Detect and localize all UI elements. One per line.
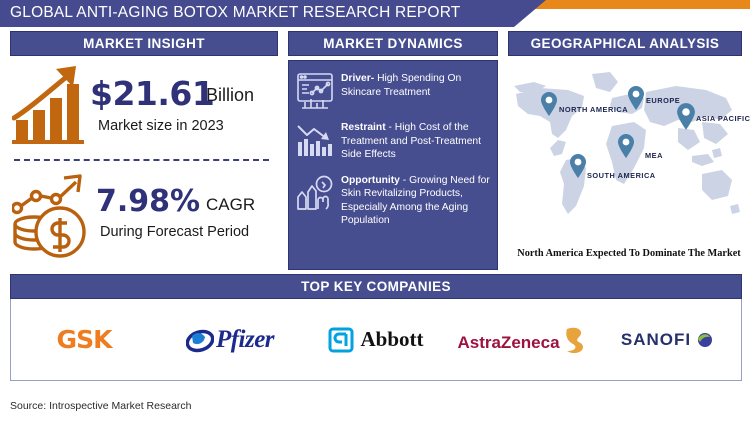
market-size-caption: Market size in 2023	[98, 118, 224, 134]
abbott-text: Abbott	[360, 327, 423, 352]
market-dynamics-panel: Driver- High Spending On Skincare Treatm…	[288, 60, 498, 270]
map-pin-south-america[interactable]	[569, 154, 587, 179]
cagr-row: 7.98% CAGR During Forecast Period	[10, 166, 278, 266]
astrazeneca-swirl-icon	[561, 325, 587, 355]
map-label-south-america: SOUTH AMERICA	[587, 171, 656, 180]
geographical-panel: NORTH AMERICA EUROPE ASIA PACIFIC MEA SO…	[506, 58, 746, 270]
map-pin-asia-pacific[interactable]	[676, 103, 696, 131]
gsk-wordmark: GSK	[57, 325, 112, 354]
dynamics-item-restraint: Restraint - High Cost of the Treatment a…	[295, 118, 491, 162]
company-logo-abbott: Abbott	[303, 299, 449, 380]
report-title-banner: GLOBAL ANTI-AGING BOTOX MARKET RESEARCH …	[0, 0, 560, 27]
analytics-dashboard-icon	[295, 71, 335, 111]
map-pin-north-america[interactable]	[540, 92, 558, 117]
market-size-unit: Billion	[206, 85, 254, 106]
dynamics-text-opportunity: Opportunity - Growing Need for Skin Revi…	[341, 171, 491, 228]
geographical-title: GEOGRAPHICAL ANALYSIS	[531, 36, 720, 51]
insight-divider	[14, 159, 269, 161]
astrazeneca-text: AstraZeneca	[457, 333, 559, 353]
coin-stack-growth-icon	[12, 172, 94, 265]
map-label-mea: MEA	[645, 151, 663, 160]
dynamics-text-driver: Driver- High Spending On Skincare Treatm…	[341, 69, 491, 109]
market-insight-title: MARKET INSIGHT	[83, 36, 205, 51]
growth-hand-idea-icon	[295, 173, 335, 213]
company-logo-gsk: GSK	[11, 299, 157, 380]
dynamics-text-restraint: Restraint - High Cost of the Treatment a…	[341, 118, 491, 162]
map-label-north-america: NORTH AMERICA	[559, 105, 628, 114]
dynamics-label-driver: Driver-	[341, 73, 374, 84]
dynamics-item-opportunity: Opportunity - Growing Need for Skin Revi…	[295, 171, 491, 228]
page-title: GLOBAL ANTI-AGING BOTOX MARKET RESEARCH …	[10, 4, 460, 22]
infographic-page: GLOBAL ANTI-AGING BOTOX MARKET RESEARCH …	[0, 0, 750, 422]
sanofi-wordmark: SANOFI	[621, 330, 715, 350]
pfizer-text: Pfizer	[216, 326, 274, 354]
section-header-market-dynamics: MARKET DYNAMICS	[288, 31, 498, 56]
company-logo-astrazeneca: AstraZeneca	[449, 299, 595, 380]
market-dynamics-title: MARKET DYNAMICS	[323, 36, 463, 51]
declining-chart-icon	[295, 120, 335, 160]
map-pin-europe[interactable]	[627, 86, 645, 111]
dynamics-label-restraint: Restraint	[341, 122, 386, 133]
sanofi-symbol-icon	[695, 330, 715, 350]
market-size-row: $21.61 Billion Market size in 2023	[10, 58, 278, 150]
cagr-caption: During Forecast Period	[100, 224, 249, 240]
map-label-asia-pacific: ASIA PACIFIC	[696, 114, 750, 123]
sanofi-text: SANOFI	[621, 330, 691, 350]
bar-chart-growth-icon	[12, 62, 88, 149]
market-size-value: $21.61	[90, 74, 214, 113]
source-note: Source: Introspective Market Research	[10, 400, 192, 412]
company-logo-sanofi: SANOFI	[595, 299, 741, 380]
companies-title: TOP KEY COMPANIES	[301, 279, 451, 294]
section-header-market-insight: MARKET INSIGHT	[10, 31, 278, 56]
cagr-value: 7.98%	[96, 184, 200, 219]
section-header-geographical: GEOGRAPHICAL ANALYSIS	[508, 31, 742, 56]
dynamics-label-opportunity: Opportunity	[341, 175, 400, 186]
company-logo-pfizer: Pfizer	[157, 299, 303, 380]
map-pin-mea[interactable]	[617, 134, 635, 159]
market-insight-panel: $21.61 Billion Market size in 2023	[10, 58, 278, 270]
section-header-companies: TOP KEY COMPANIES	[10, 274, 742, 299]
abbott-wordmark: Abbott	[328, 327, 423, 353]
pfizer-wordmark: Pfizer	[186, 326, 274, 354]
cagr-unit: CAGR	[206, 195, 255, 215]
astrazeneca-wordmark: AstraZeneca	[457, 325, 586, 355]
dynamics-item-driver: Driver- High Spending On Skincare Treatm…	[295, 69, 491, 109]
abbott-symbol-icon	[328, 327, 354, 353]
companies-logo-row: GSK Pfizer Abbott	[10, 299, 742, 381]
geographical-footer-note: North America Expected To Dominate The M…	[510, 248, 748, 259]
pfizer-oval-icon	[186, 327, 214, 353]
